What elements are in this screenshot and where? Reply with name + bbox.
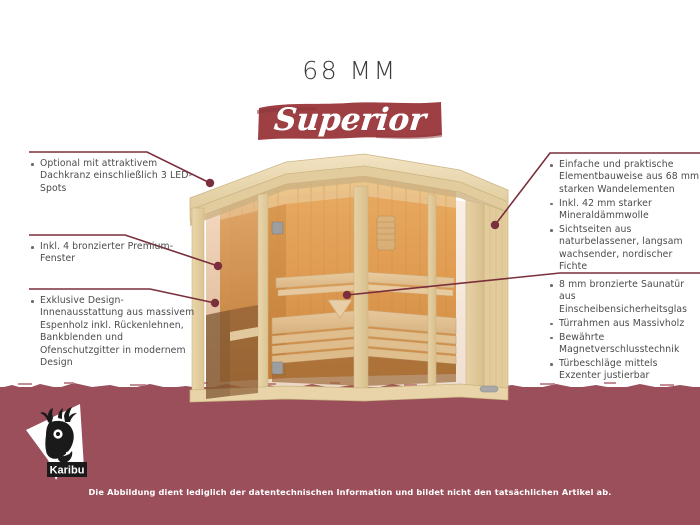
callout-item: Türbeschläge mittels Exzenter justierbar: [548, 358, 700, 383]
callout-right-construction: Einfache und praktische Elementbauweise …: [548, 159, 700, 275]
callout-item: Optional mit attraktivem Dachkranz einsc…: [29, 158, 205, 195]
badge-label: Superior: [254, 98, 447, 142]
callout-left-roof-crown: Optional mit attraktivem Dachkranz einsc…: [29, 158, 205, 197]
logo-wordmark: Karibu: [50, 465, 85, 477]
product-info-sheet: 68 MM Superior: [0, 0, 700, 525]
callout-item: Exklusive Design-Innenausstattung aus ma…: [29, 295, 205, 369]
callout-item: Türrahmen aus Massivholz: [548, 318, 700, 330]
callout-right-door: 8 mm bronzierte Saunatür aus Einscheiben…: [548, 279, 700, 384]
callout-item: 8 mm bronzierte Saunatür aus Einscheiben…: [548, 279, 700, 316]
karibu-logo: Karibu: [18, 402, 110, 486]
callout-item: Bewährte Magnetverschlusstechnik: [548, 332, 700, 357]
callout-item: Inkl. 4 bronzierter Premium-Fenster: [29, 241, 205, 266]
callout-left-interior: Exklusive Design-Innenausstattung aus ma…: [29, 295, 205, 371]
callout-item: Inkl. 42 mm starker Mineraldämmwolle: [548, 198, 700, 223]
page-title: 68 MM: [0, 56, 700, 85]
callout-item: Einfache und praktische Elementbauweise …: [548, 159, 700, 196]
product-image-corner-sauna: [168, 150, 532, 412]
superior-badge: Superior: [0, 95, 700, 147]
callout-left-windows: Inkl. 4 bronzierter Premium-Fenster: [29, 241, 205, 267]
callout-item: Sichtseiten aus naturbelassener, langsam…: [548, 224, 700, 274]
disclaimer-text: Die Abbildung dient lediglich der datent…: [0, 487, 700, 497]
